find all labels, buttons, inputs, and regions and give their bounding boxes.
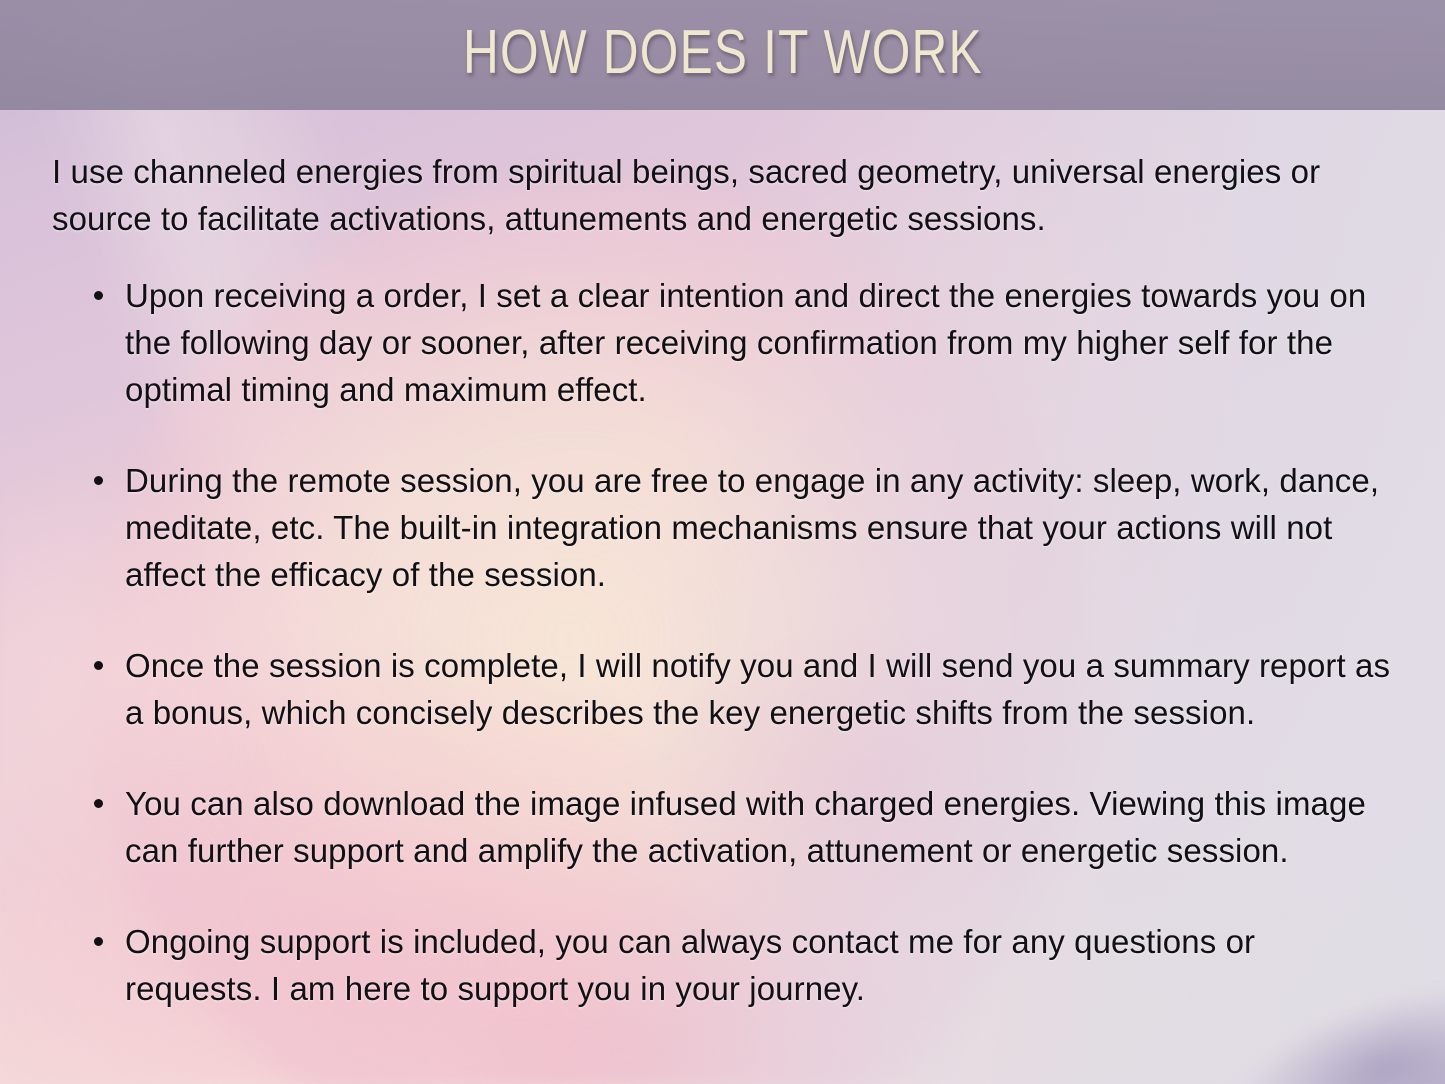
bullet-dot-icon: [94, 799, 103, 808]
list-item: Upon receiving a order, I set a clear in…: [94, 272, 1393, 413]
content-area: I use channeled energies from spiritual …: [0, 110, 1445, 1012]
slide-how-does-it-work: HOW DOES IT WORK I use channeled energie…: [0, 0, 1445, 1084]
bullet-dot-icon: [94, 661, 103, 670]
bullet-dot-icon: [94, 937, 103, 946]
list-item: Once the session is complete, I will not…: [94, 642, 1393, 736]
list-item: During the remote session, you are free …: [94, 457, 1393, 598]
intro-paragraph: I use channeled energies from spiritual …: [52, 148, 1393, 242]
list-item-text: During the remote session, you are free …: [125, 462, 1379, 593]
list-item-text: Ongoing support is included, you can alw…: [125, 923, 1255, 1007]
header-band: HOW DOES IT WORK: [0, 0, 1445, 110]
bullet-list: Upon receiving a order, I set a clear in…: [52, 272, 1393, 1012]
list-item: Ongoing support is included, you can alw…: [94, 918, 1393, 1012]
bullet-dot-icon: [94, 291, 103, 300]
list-item-text: Upon receiving a order, I set a clear in…: [125, 277, 1366, 408]
page-title: HOW DOES IT WORK: [463, 22, 983, 88]
list-item: You can also download the image infused …: [94, 780, 1393, 874]
list-item-text: You can also download the image infused …: [125, 785, 1366, 869]
bullet-dot-icon: [94, 476, 103, 485]
list-item-text: Once the session is complete, I will not…: [125, 647, 1390, 731]
